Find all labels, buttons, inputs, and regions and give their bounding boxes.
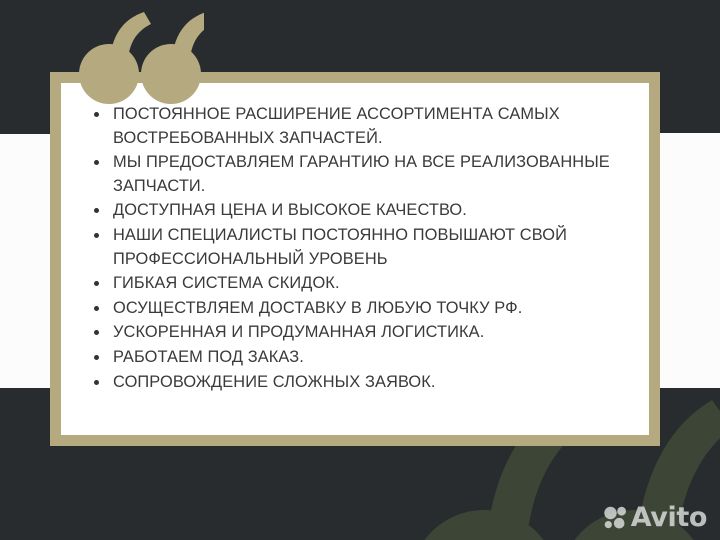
quote-card: ПОСТОЯННОЕ РАСШИРЕНИЕ АССОРТИМЕНТА САМЫХ… [50, 72, 660, 446]
list-item: ГИБКАЯ СИСТЕМА СКИДОК. [87, 272, 623, 296]
list-item: МЫ ПРЕДОСТАВЛЯЕМ ГАРАНТИЮ НА ВСЕ РЕАЛИЗО… [87, 151, 623, 198]
avito-watermark: Avito [604, 504, 707, 531]
list-item: НАШИ СПЕЦИАЛИСТЫ ПОСТОЯННО ПОВЫШАЮТ СВОЙ… [87, 224, 623, 271]
list-item: УСКОРЕННАЯ И ПРОДУМАННАЯ ЛОГИСТИКА. [87, 321, 623, 345]
avito-wordmark: Avito [631, 504, 707, 531]
background-band-right [660, 133, 720, 388]
quote-card-inner: ПОСТОЯННОЕ РАСШИРЕНИЕ АССОРТИМЕНТА САМЫХ… [61, 83, 649, 435]
list-item: ПОСТОЯННОЕ РАСШИРЕНИЕ АССОРТИМЕНТА САМЫХ… [87, 103, 623, 150]
benefits-list: ПОСТОЯННОЕ РАСШИРЕНИЕ АССОРТИМЕНТА САМЫХ… [87, 103, 623, 394]
list-item: СОПРОВОЖДЕНИЕ СЛОЖНЫХ ЗАЯВОК. [87, 371, 623, 395]
avito-dots-icon [604, 506, 627, 529]
list-item: ОСУЩЕСТВЛЯЕМ ДОСТАВКУ В ЛЮБУЮ ТОЧКУ РФ. [87, 297, 623, 321]
poster-canvas: ПОСТОЯННОЕ РАСШИРЕНИЕ АССОРТИМЕНТА САМЫХ… [0, 0, 720, 540]
list-item: ДОСТУПНАЯ ЦЕНА И ВЫСОКОЕ КАЧЕСТВО. [87, 199, 623, 223]
list-item: РАБОТАЕМ ПОД ЗАКАЗ. [87, 346, 623, 370]
